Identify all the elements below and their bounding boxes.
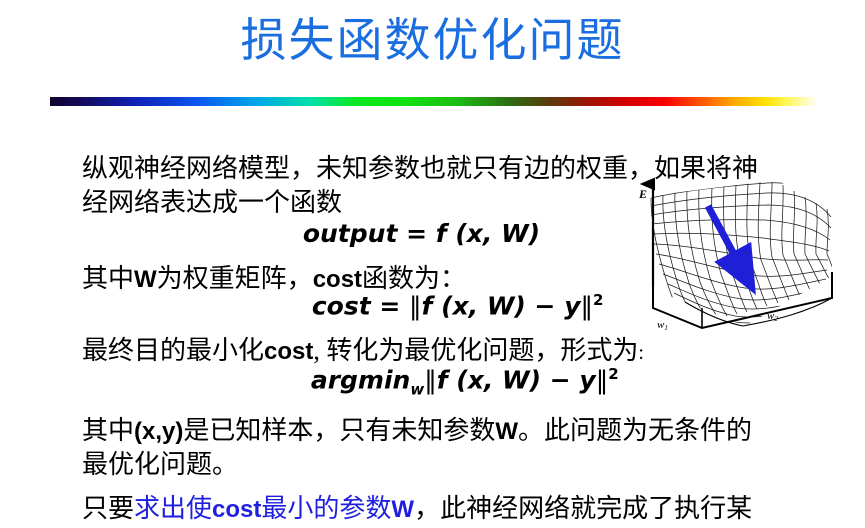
weight-matrix-symbol-2: W: [495, 418, 518, 445]
paragraph-4-line-2: 种任务的目的。: [56, 492, 264, 528]
highlight-blue-part-b: 最小的参数: [261, 494, 391, 523]
axis-label-E: E: [638, 187, 647, 201]
error-surface-figure: E: [627, 176, 842, 341]
axis-label-w1: w1: [657, 319, 668, 332]
page-title: 损失函数优化问题: [0, 12, 865, 70]
line-minimization-part-a: 最终目的最小化: [82, 336, 264, 365]
line-cost-definition-part-a: 其中: [82, 264, 134, 293]
paragraph-4-part-b: ，此神经网络就完成了执行某: [414, 494, 752, 523]
slide: 损失函数优化问题 纵观神经网络模型，未知参数也就只有边的权重，如果将神 经网络表…: [0, 0, 865, 528]
highlight-blue-weight-symbol: W: [391, 496, 414, 523]
line-minimization-colon: :: [638, 342, 644, 364]
axis-label-w2: w2: [767, 310, 778, 323]
rainbow-divider: [50, 97, 818, 106]
weight-matrix-symbol: W: [134, 266, 157, 293]
paragraph-3-part-c: 。此问题为无条件的: [518, 416, 752, 445]
